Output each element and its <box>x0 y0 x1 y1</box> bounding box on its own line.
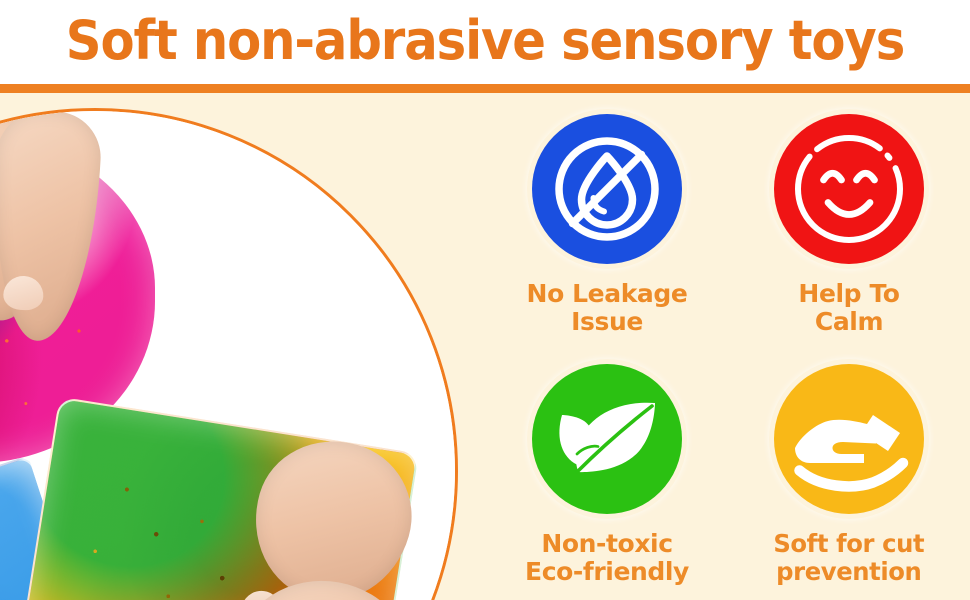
header-band: Soft non-abrasive sensory toys <box>0 0 970 84</box>
smiley-face-icon <box>774 114 924 264</box>
page-title: Soft non-abrasive sensory toys <box>39 2 931 80</box>
product-feature-banner: Soft non-abrasive sensory toys <box>0 0 970 600</box>
feature-label-non-toxic: Non-toxic Eco-friendly <box>525 530 689 586</box>
feature-non-toxic: Non-toxic Eco-friendly <box>486 350 728 600</box>
no-leakage-badge <box>532 114 682 264</box>
feature-label-no-leakage: No Leakage Issue <box>527 280 688 336</box>
feature-label-help-to-calm: Help To Calm <box>798 280 899 336</box>
feature-help-to-calm: Help To Calm <box>728 100 970 350</box>
header-divider-rule <box>0 84 970 93</box>
product-photo <box>0 111 455 600</box>
soft-cut-prevention-badge <box>774 364 924 514</box>
hand-holding-object-icon <box>774 364 924 514</box>
feature-soft-cut-prevention: Soft for cut prevention <box>728 350 970 600</box>
product-photo-panel <box>0 108 458 600</box>
non-toxic-badge <box>532 364 682 514</box>
feature-no-leakage: No Leakage Issue <box>486 100 728 350</box>
fingernail <box>3 275 45 311</box>
feature-grid: No Leakage Issue Help To Calm <box>486 100 970 600</box>
help-to-calm-badge <box>774 114 924 264</box>
no-water-drop-icon <box>532 114 682 264</box>
feature-label-soft-cut-prevention: Soft for cut prevention <box>774 530 925 586</box>
leaves-icon <box>532 364 682 514</box>
